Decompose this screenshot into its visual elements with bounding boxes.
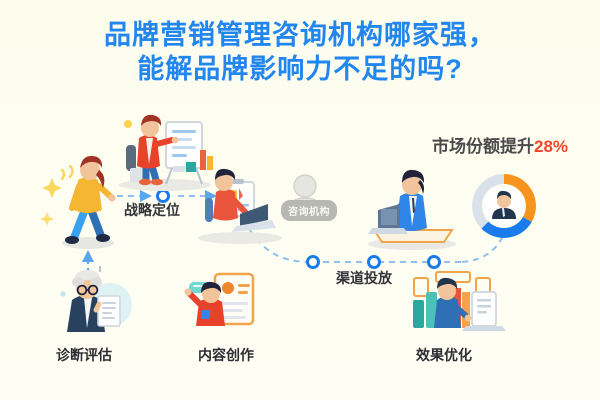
label-content-creation: 内容创作 (198, 345, 254, 365)
label-channel-distribution: 渠道投放 (336, 268, 392, 288)
market-share-donut-chart (472, 174, 536, 238)
label-effect-optimization: 效果优化 (416, 345, 472, 365)
content-creation-illustration (184, 274, 253, 326)
infographic-canvas: 品牌营销管理咨询机构哪家强， 能解品牌影响力不足的吗? 市场份额提升28% (0, 0, 600, 400)
label-strategy-positioning: 战略定位 (124, 200, 180, 220)
businessman-desk-illustration (368, 170, 456, 250)
laptop-worker-illustration (198, 169, 282, 244)
presenter-flipchart-illustration (119, 115, 213, 191)
badge-consulting-agency: 咨询机构 (281, 200, 337, 221)
effect-optimization-illustration (413, 272, 506, 331)
walking-woman-illustration (40, 156, 116, 249)
diagnosis-illustration (60, 266, 132, 332)
label-diagnosis-evaluation: 诊断评估 (56, 345, 112, 365)
